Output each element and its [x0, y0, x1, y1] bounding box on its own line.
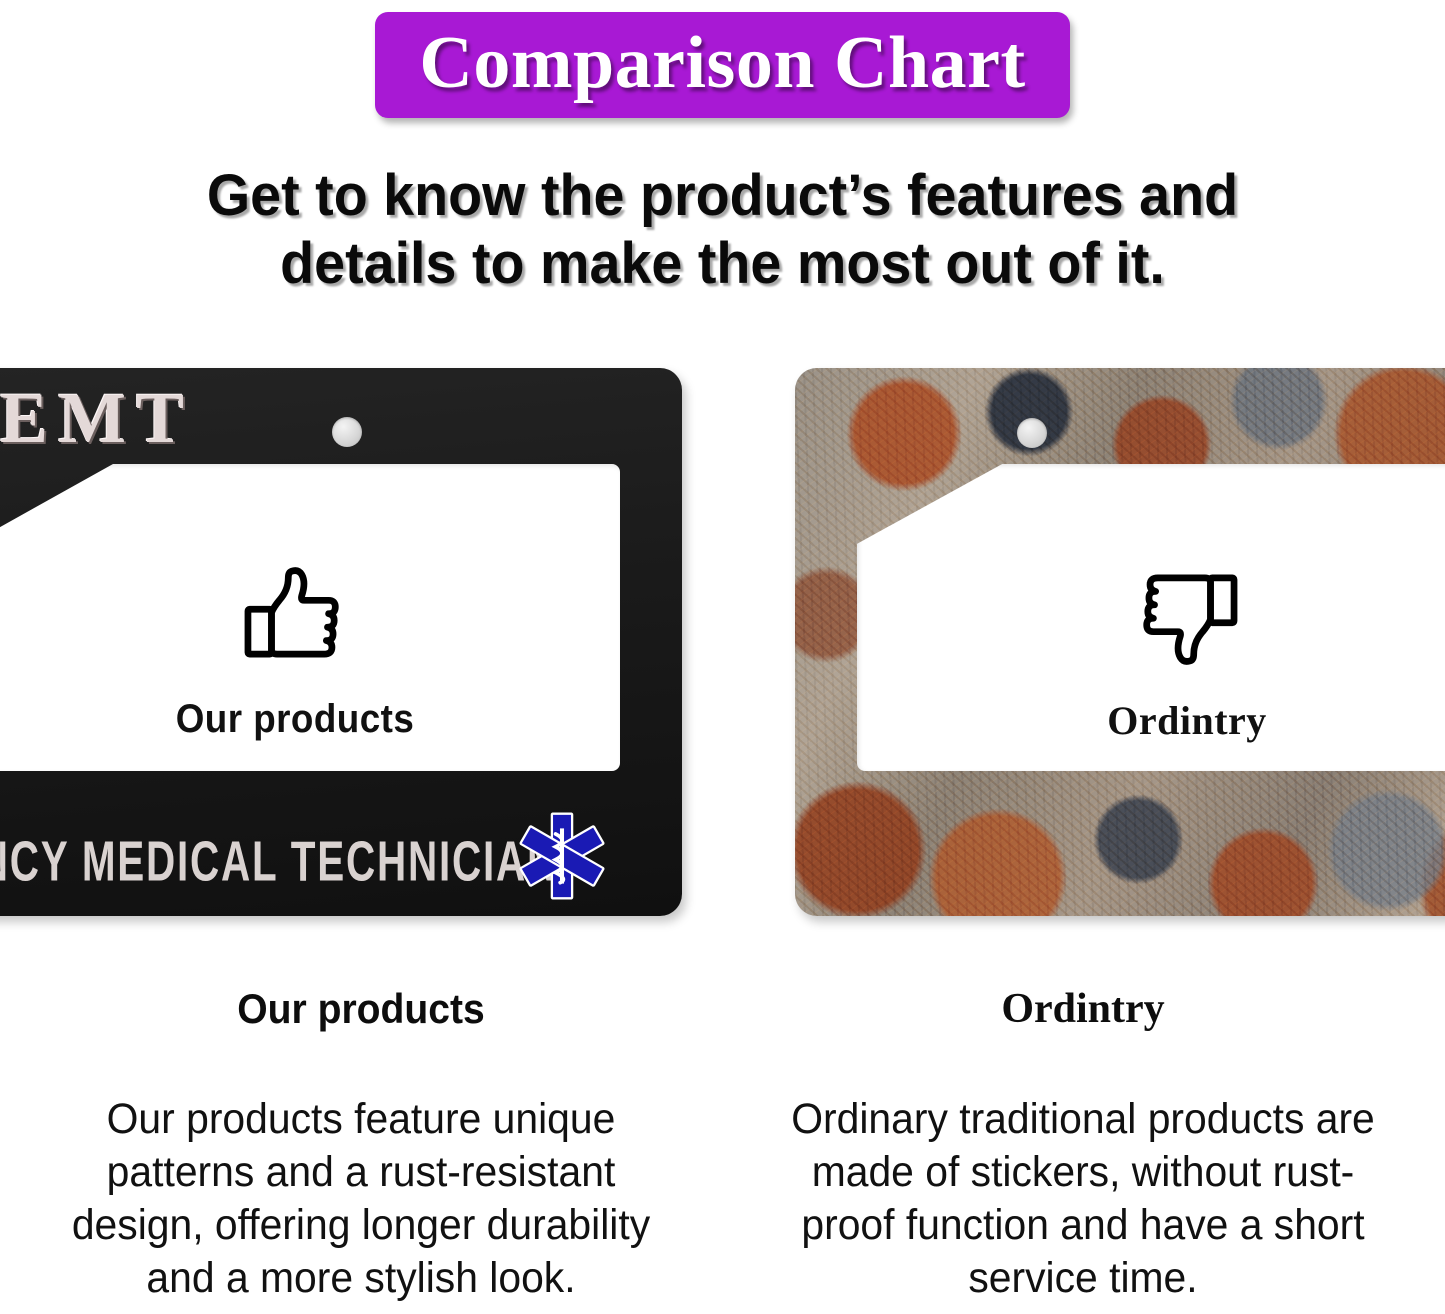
column-heading-ours: Our products: [25, 985, 696, 1033]
comparison-chart-banner: Comparison Chart: [375, 12, 1069, 118]
column-body-ours: Our products feature unique patterns and…: [18, 1093, 704, 1305]
aperture-heading-ours: Our products: [0, 697, 594, 742]
plate-bottom-legend: NCY MEDICAL TECHNICIAN: [0, 828, 586, 894]
screw-hole: [1017, 418, 1047, 448]
plate-window-content-ordinary: Ordintry License Plate Prame: [857, 560, 1445, 830]
ordinary-product-license-plate-frame: Ordintry License Plate Prame: [795, 368, 1445, 916]
star-of-life-icon: [516, 810, 608, 902]
subtitle-line-2: details to make the most out of it.: [29, 230, 1416, 298]
plate-window-ordinary: Ordintry License Plate Prame: [857, 464, 1445, 771]
column-our-products: Our products Our products feature unique…: [0, 985, 722, 1305]
product-comparison-frames: EMT NCY MEDICAL TECHNICIAN: [0, 350, 1445, 935]
page-title: Comparison Chart: [419, 22, 1025, 104]
description-columns: Our products Our products feature unique…: [0, 985, 1445, 1305]
header-banner-container: Comparison Chart: [0, 12, 1445, 118]
our-product-license-plate-frame: EMT NCY MEDICAL TECHNICIAN: [0, 368, 682, 916]
thumbs-up-icon: [239, 560, 351, 672]
aperture-heading-ordinary: Ordintry: [857, 697, 1445, 744]
column-body-ordinary: Ordinary traditional products are made o…: [740, 1093, 1426, 1305]
page-subtitle: Get to know the product’s features and d…: [29, 162, 1416, 298]
thumbs-down-icon: [1131, 560, 1243, 672]
plate-window-ours: Our products License Plate Prame: [0, 464, 620, 771]
column-heading-ordinary: Ordintry: [722, 985, 1444, 1033]
column-ordinary: Ordintry Ordinary traditional products a…: [722, 985, 1444, 1305]
aperture-subheading-ordinary: License Plate Prame: [857, 780, 1445, 830]
plate-top-legend: EMT: [0, 378, 194, 458]
plate-window-content-ours: Our products License Plate Prame: [0, 560, 620, 828]
screw-hole: [332, 417, 362, 447]
subtitle-line-1: Get to know the product’s features and: [29, 162, 1416, 230]
